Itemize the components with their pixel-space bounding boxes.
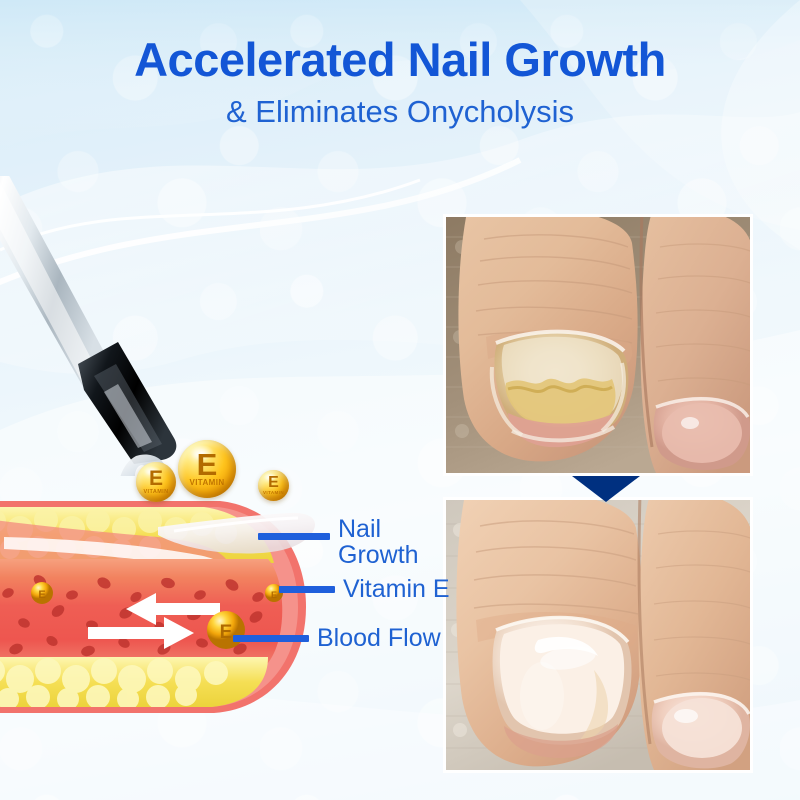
callout-nail-growth: Nail Growth (258, 505, 419, 568)
capsule-small: E VITAMIN (258, 470, 289, 501)
leader-line (233, 635, 309, 642)
callout-label: Blood Flow (317, 626, 441, 652)
capsule-large: E VITAMIN (178, 440, 236, 498)
ad-canvas: Accelerated Nail Growth & Eliminates Ony… (0, 0, 800, 800)
before-photo (446, 217, 750, 473)
capsule-word: VITAMIN (143, 489, 168, 495)
leader-line (279, 586, 335, 593)
capsule-word: VITAMIN (189, 478, 224, 487)
svg-text:E: E (271, 590, 277, 600)
callout-blood-flow: Blood Flow (233, 626, 441, 652)
before-photo-frame (443, 214, 753, 476)
capsule-letter: E (268, 476, 279, 491)
dropper-brush-icon (0, 176, 196, 476)
leader-line (258, 533, 330, 540)
capsule-letter: E (149, 469, 163, 488)
applicator-brush (0, 176, 196, 481)
after-photo-frame (443, 497, 753, 773)
svg-text:E: E (220, 622, 233, 643)
capsule-medium: E VITAMIN (136, 462, 176, 502)
after-photo (446, 500, 750, 770)
capsule-letter: E (197, 451, 218, 480)
page-title: Accelerated Nail Growth (0, 36, 800, 85)
headline-block: Accelerated Nail Growth & Eliminates Ony… (0, 36, 800, 129)
down-triangle-icon (572, 476, 640, 502)
svg-text:E: E (38, 589, 45, 601)
capsule-word: VITAMIN (263, 490, 284, 495)
callout-label: Vitamin E (343, 577, 450, 603)
page-subtitle: & Eliminates Onycholysis (0, 95, 800, 129)
callout-label: Nail Growth (338, 517, 419, 568)
callout-vitamin-e: Vitamin E (279, 577, 450, 603)
